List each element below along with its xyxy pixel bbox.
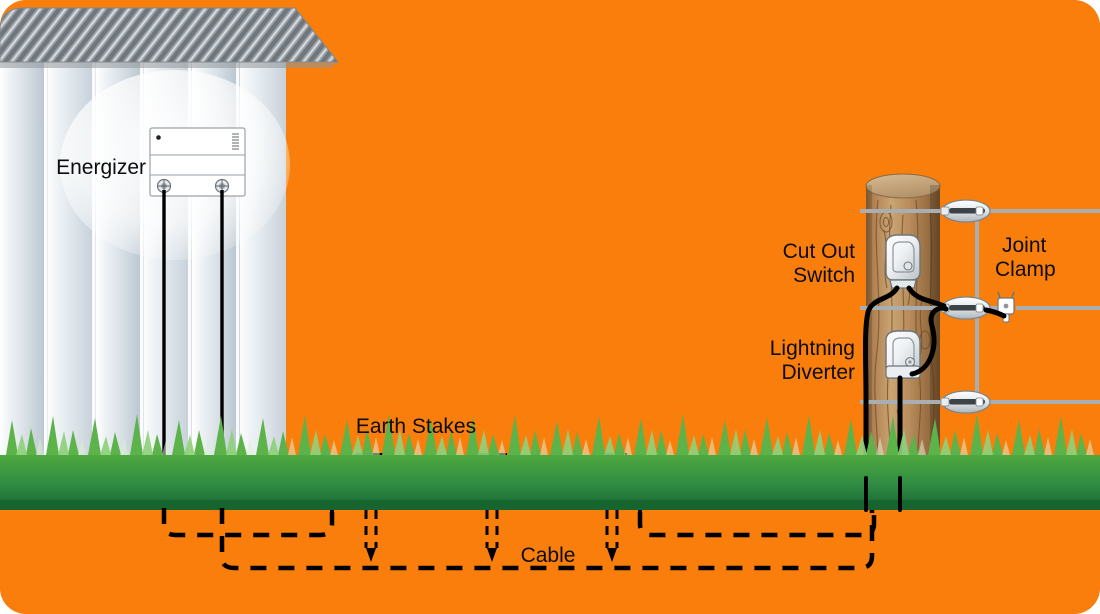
fence-post	[866, 174, 940, 475]
post-top	[866, 174, 940, 198]
energizer-label: Energizer	[56, 156, 146, 179]
cut-out-switch-label: Cut Out Switch	[783, 240, 856, 287]
cut-out-switch-label-line1: Cut Out	[783, 240, 856, 263]
lightning-diverter-label-line2: Diverter	[781, 361, 855, 384]
cut-out-switch-label-line2: Switch	[793, 264, 855, 287]
energizer-unit[interactable]	[150, 128, 245, 196]
lightning-diverter-label: Lightning Diverter	[770, 337, 855, 384]
shed-roof	[0, 8, 338, 68]
cable-label: Cable	[521, 544, 576, 567]
joint-clamp-top[interactable]	[941, 200, 990, 222]
diagram-canvas: Energizer	[0, 0, 1100, 614]
fence-earthing-diagram: Energizer	[0, 0, 1100, 614]
cut-out-switch-device[interactable]	[886, 235, 920, 288]
joint-clamp-bottom[interactable]	[941, 391, 990, 413]
lightning-diverter-label-line1: Lightning	[770, 337, 855, 360]
joint-clamp-middle[interactable]	[941, 297, 990, 319]
joint-clamp-label-line2: Clamp	[995, 258, 1056, 281]
earth-stakes-label: Earth Stakes	[356, 415, 476, 438]
energizer-indicator-light	[156, 135, 161, 140]
joint-clamp-label-line1: Joint	[1002, 234, 1047, 257]
